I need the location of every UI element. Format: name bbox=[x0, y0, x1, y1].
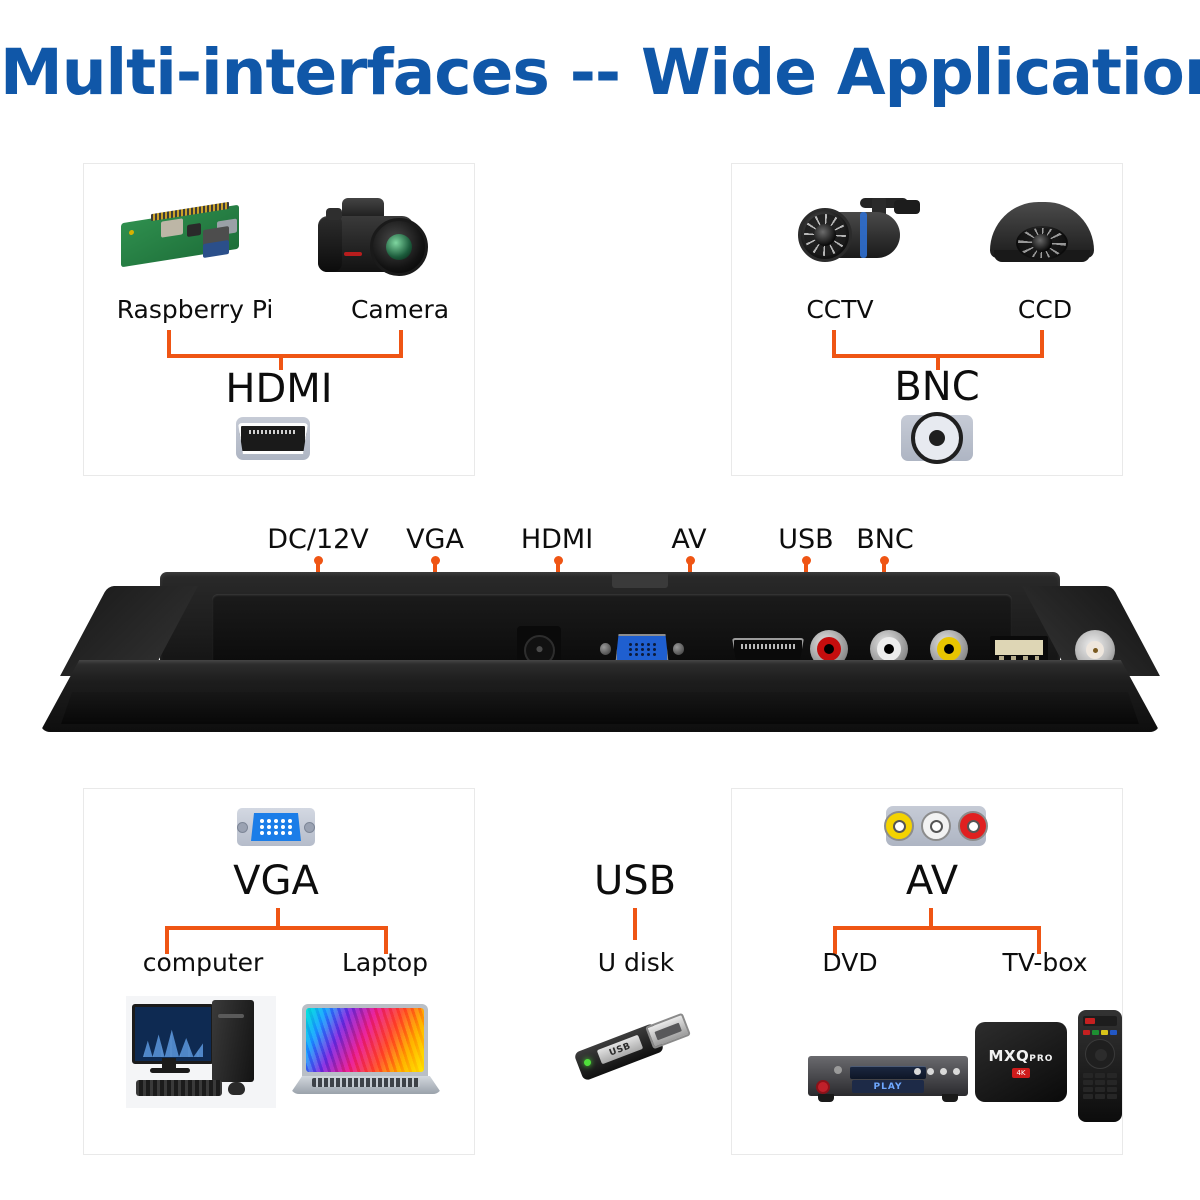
port-hdmi bbox=[732, 638, 804, 662]
dome-ccd-camera-art bbox=[990, 202, 1094, 274]
connector-bar-av-panel bbox=[833, 926, 1041, 930]
connector-stem-usb bbox=[633, 908, 637, 940]
desktop-computer-art bbox=[126, 996, 276, 1108]
port-label-usb: USB bbox=[768, 524, 844, 555]
source-label-computer: computer bbox=[113, 948, 293, 977]
infographic-root: Multi-interfaces -- Wide Applications Ra… bbox=[0, 0, 1200, 1200]
av-icon-jack-yellow bbox=[884, 811, 914, 841]
av-port-icon bbox=[886, 806, 986, 846]
dslr-camera-art bbox=[318, 196, 430, 280]
interface-label-hdmi: HDMI bbox=[199, 366, 359, 412]
source-label-raspberry-pi: Raspberry Pi bbox=[110, 295, 280, 324]
source-label-ccd: CCD bbox=[990, 295, 1100, 324]
port-label-hdmi: HDMI bbox=[512, 524, 602, 555]
monitor-vesa-notch bbox=[612, 574, 668, 588]
source-label-tvbox: TV-box bbox=[975, 948, 1115, 977]
hdmi-port-icon bbox=[236, 417, 310, 460]
dvd-player-art: PLAY bbox=[808, 1050, 968, 1106]
tv-box-art: MXQPRO 4K bbox=[975, 1022, 1067, 1108]
interface-label-bnc: BNC bbox=[857, 364, 1017, 410]
av-icon-jack-white bbox=[921, 811, 951, 841]
tvbox-badge-4k: 4K bbox=[1012, 1068, 1029, 1078]
raspberry-pi-board-art bbox=[117, 202, 243, 268]
source-label-dvd: DVD bbox=[790, 948, 910, 977]
tvbox-brand-text: MXQ bbox=[989, 1047, 1030, 1065]
monitor-io-recess bbox=[212, 594, 1012, 666]
bnc-port-icon bbox=[901, 415, 973, 461]
usb-flash-drive-art: USB bbox=[576, 1015, 696, 1089]
source-label-cctv: CCTV bbox=[780, 295, 900, 324]
port-label-av: AV bbox=[654, 524, 724, 555]
connector-bar-vga bbox=[165, 926, 388, 930]
vga-port-icon bbox=[234, 806, 318, 848]
dvd-display-text: PLAY bbox=[852, 1080, 924, 1093]
source-label-laptop: Laptop bbox=[310, 948, 460, 977]
tv-remote-art bbox=[1078, 1010, 1122, 1122]
port-label-vga: VGA bbox=[395, 524, 475, 555]
port-label-bnc: BNC bbox=[845, 524, 925, 555]
laptop-art bbox=[290, 1004, 442, 1104]
av-icon-jack-red bbox=[958, 811, 988, 841]
bullet-cctv-camera-art bbox=[798, 198, 924, 274]
interface-label-av: AV bbox=[852, 858, 1012, 904]
monitor-bottom-lip bbox=[50, 692, 1150, 724]
page-title: Multi-interfaces -- Wide Applications bbox=[0, 36, 1200, 109]
interface-label-usb: USB bbox=[560, 858, 710, 904]
source-label-camera: Camera bbox=[330, 295, 470, 324]
interface-label-vga: VGA bbox=[196, 858, 356, 904]
source-label-udisk: U disk bbox=[558, 948, 714, 977]
tvbox-brand-suffix: PRO bbox=[1029, 1054, 1053, 1064]
port-label-dc12v: DC/12V bbox=[258, 524, 378, 555]
monitor-rear-port-panel bbox=[40, 572, 1160, 757]
connector-bar-hdmi bbox=[167, 354, 403, 358]
